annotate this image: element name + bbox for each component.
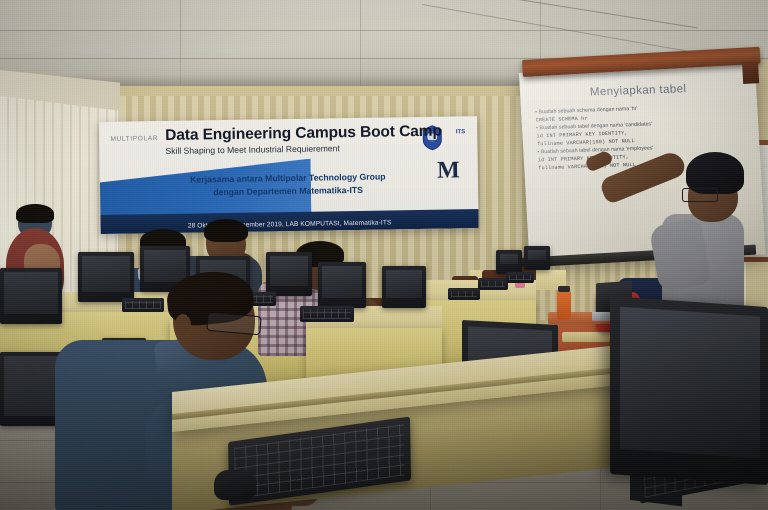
keyboard[interactable] (448, 288, 480, 300)
multipolar-m-logo: M (437, 158, 460, 182)
event-banner: MULTIPOLAR ITS Data Engineering Campus B… (99, 116, 479, 234)
foreground-monitor (610, 296, 768, 485)
its-logo-text: ITS (456, 129, 465, 135)
student-hair-far-left (16, 204, 54, 223)
keyboard[interactable] (506, 272, 534, 283)
monitor (0, 268, 62, 324)
bottle-cap (558, 286, 570, 292)
monitor (382, 266, 426, 308)
monitor (496, 250, 522, 274)
sleeve (649, 218, 712, 292)
monitor (524, 246, 550, 270)
monitor (318, 262, 366, 308)
slide-title: Menyiapkan tabel (520, 81, 757, 101)
mouse[interactable] (214, 470, 256, 500)
projector-screen-mount-cap (742, 61, 759, 84)
lab-classroom-photo: Menyiapkan tabel • Buatlah sebuah schema… (0, 0, 768, 510)
keyboard[interactable] (300, 306, 354, 322)
glasses (682, 188, 718, 202)
ear (175, 314, 191, 335)
water-bottle (557, 290, 571, 320)
keyboard[interactable] (478, 278, 508, 290)
monitor-screen (620, 307, 760, 459)
multipolar-logo: MULTIPOLAR (105, 129, 163, 148)
